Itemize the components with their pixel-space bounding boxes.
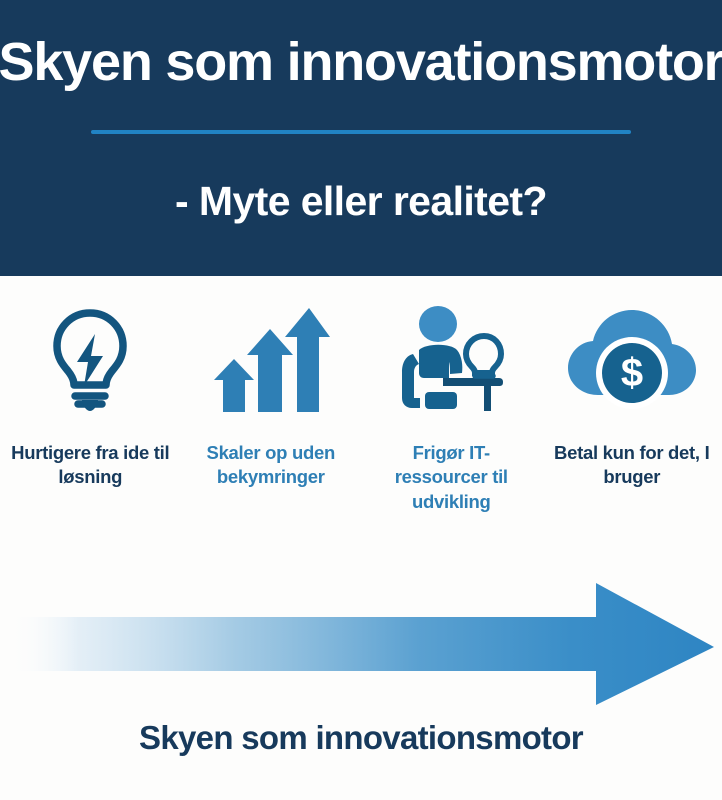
benefit-item-scale: Skaler op uden bekymringer <box>181 300 362 490</box>
lightbulb-bolt-icon <box>41 300 139 420</box>
benefits-row: Hurtigere fra ide til løsning Skaler op … <box>0 300 722 514</box>
page-title: Skyen som innovationsmotor <box>0 34 722 91</box>
footer-label: Skyen som innovationsmotor <box>0 719 722 757</box>
title-banner: Skyen som innovationsmotor - Myte eller … <box>0 0 722 276</box>
benefit-item-it-resources: Frigør IT-ressourcer til udvikling <box>361 300 542 514</box>
benefit-caption: Hurtigere fra ide til løsning <box>10 441 170 490</box>
growth-arrows-icon <box>212 300 330 420</box>
svg-text:$: $ <box>621 351 643 395</box>
benefit-caption: Betal kun for det, I bruger <box>552 441 712 490</box>
benefit-item-pay-per-use: $ Betal kun for det, I bruger <box>542 300 722 490</box>
benefit-item-speed: Hurtigere fra ide til løsning <box>0 300 181 490</box>
title-divider <box>91 130 631 134</box>
progress-arrow <box>0 575 722 710</box>
page-subtitle: - Myte eller realitet? <box>0 178 722 225</box>
cloud-dollar-coin-icon: $ <box>567 300 697 420</box>
person-at-desk-idea-icon <box>395 300 507 420</box>
benefit-caption: Skaler op uden bekymringer <box>191 441 351 490</box>
benefit-caption: Frigør IT-ressourcer til udvikling <box>371 441 531 514</box>
